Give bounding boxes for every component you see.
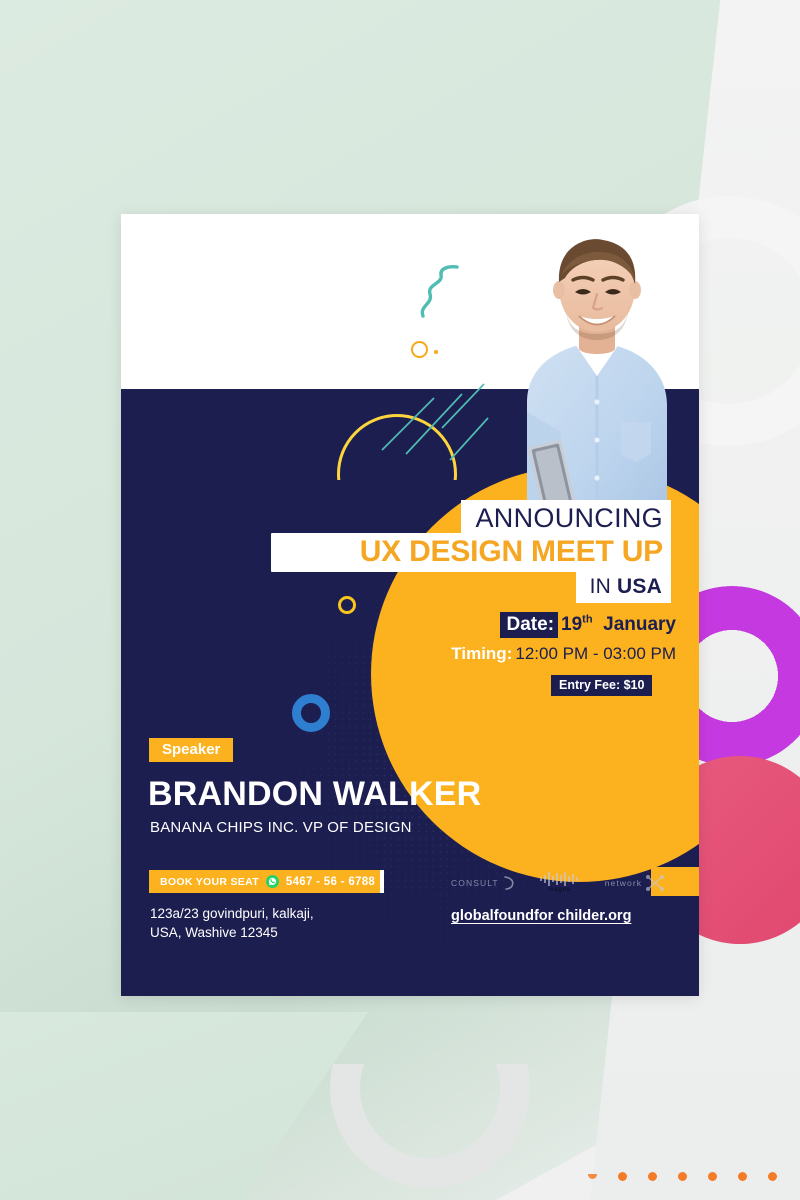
screenshot-stage: PRESENTED BY INSTITUTE FOR CREATIVE DESI… xyxy=(0,0,800,1200)
date-value: 19th January xyxy=(561,614,676,635)
venue-address: 123a/23 govindpuri, kalkaji, USA, Washiv… xyxy=(150,904,314,942)
date-label: Date: xyxy=(500,612,559,638)
speaker-badge: Speaker xyxy=(149,738,233,762)
address-line-2: USA, Washive 12345 xyxy=(150,923,314,942)
date-day: 19 xyxy=(561,614,582,635)
timing-value: 12:00 PM - 03:00 PM xyxy=(515,644,676,663)
event-timing-row: Timing:12:00 PM - 03:00 PM xyxy=(321,644,676,664)
pagination-dot[interactable] xyxy=(768,1172,777,1181)
location-country: USA xyxy=(617,575,662,598)
sponsor-logo-magna: magna xyxy=(540,872,580,893)
book-bar-accent xyxy=(380,870,384,893)
address-line-1: 123a/23 govindpuri, kalkaji, xyxy=(150,904,314,923)
teal-diagonal-lines-icon xyxy=(376,354,496,474)
magna-waveform-icon xyxy=(540,872,580,886)
event-date-row: Date:19th January xyxy=(321,614,676,636)
pagination-dot[interactable] xyxy=(708,1172,717,1181)
speaker-name: BRANDON WALKER xyxy=(148,775,481,814)
network-nodes-icon xyxy=(646,875,664,891)
pagination-dots[interactable] xyxy=(588,1172,777,1181)
speaker-role: BANANA CHIPS INC. VP OF DESIGN xyxy=(150,819,412,836)
pagination-dot[interactable] xyxy=(618,1172,627,1181)
sponsor-magna-label: magna xyxy=(549,887,571,893)
event-location-row: IN USA xyxy=(576,571,671,603)
book-seat-phone: 5467 - 56 - 6788 xyxy=(286,876,375,888)
timing-label: Timing: xyxy=(451,644,512,663)
date-month: January xyxy=(603,614,676,635)
pagination-dot[interactable] xyxy=(738,1172,747,1181)
pagination-dot[interactable] xyxy=(678,1172,687,1181)
sponsor-network-label: network xyxy=(605,878,642,888)
sponsor-logos: CONSULT magna network xyxy=(451,872,664,893)
event-title: UX DESIGN MEET UP xyxy=(360,535,663,568)
teal-squiggle-icon xyxy=(417,262,463,320)
location-prefix: IN xyxy=(590,575,617,598)
book-seat-button[interactable]: BOOK YOUR SEAT 5467 - 56 - 6788 xyxy=(149,870,384,893)
pagination-dot[interactable] xyxy=(648,1172,657,1181)
entry-fee-badge: Entry Fee: $10 xyxy=(551,675,652,696)
announcement-block: ANNOUNCING UX DESIGN MEET UP IN USA xyxy=(271,500,671,603)
blue-ring-icon xyxy=(292,694,330,732)
book-seat-label: BOOK YOUR SEAT xyxy=(160,876,259,888)
sponsor-consult-label: CONSULT xyxy=(451,878,499,888)
announcing-label: ANNOUNCING xyxy=(461,500,671,534)
consult-swoosh-icon xyxy=(503,876,515,890)
event-flyer-poster: PRESENTED BY INSTITUTE FOR CREATIVE DESI… xyxy=(121,214,699,996)
speaker-photo xyxy=(491,226,696,526)
sponsor-logo-network: network xyxy=(605,875,664,891)
sponsor-logo-consult: CONSULT xyxy=(451,876,515,890)
whatsapp-icon xyxy=(266,875,279,888)
pagination-dot[interactable] xyxy=(588,1174,597,1179)
website-link[interactable]: globalfoundfor childer.org xyxy=(451,908,631,924)
event-title-row: UX DESIGN MEET UP xyxy=(271,533,671,572)
event-location: IN USA xyxy=(590,575,662,598)
date-ordinal: th xyxy=(582,614,592,626)
